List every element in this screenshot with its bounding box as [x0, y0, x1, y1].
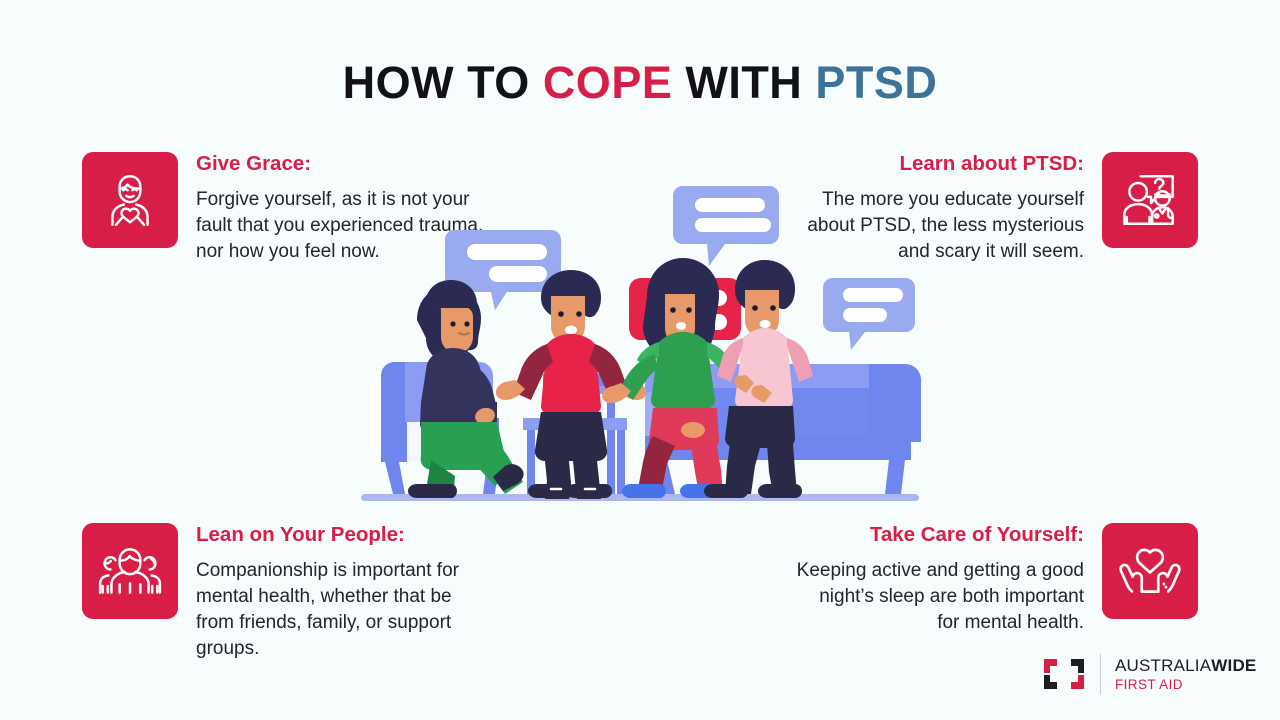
page-title: HOW TO COPE WITH PTSD	[0, 57, 1280, 109]
title-part-cope: COPE	[543, 57, 673, 108]
support-group-conversation-illustration	[355, 178, 925, 513]
doctor-patient-question-icon	[1102, 152, 1198, 248]
title-part-ptsd: PTSD	[815, 57, 937, 108]
infographic-canvas: HOW TO COPE WITH PTSD Give Grace: Forgiv…	[0, 0, 1280, 720]
tip-take-care-of-yourself: Take Care of Yourself: Keeping active an…	[792, 523, 1198, 636]
australia-wide-first-aid-cross-mark	[1040, 650, 1088, 698]
tip-text-block: Lean on Your People: Companionship is im…	[196, 523, 488, 662]
tip-text-block: Take Care of Yourself: Keeping active an…	[792, 523, 1084, 636]
logo-text-wide: WIDE	[1211, 656, 1256, 675]
logo-wordmark: AUSTRALIAWIDE FIRST AID	[1113, 657, 1256, 692]
tip-heading: Learn about PTSD:	[792, 152, 1084, 176]
tip-heading: Give Grace:	[196, 152, 488, 176]
tip-body: Companionship is important for mental he…	[196, 558, 488, 662]
tip-heading: Lean on Your People:	[196, 523, 488, 547]
person-hands-on-heart-icon	[82, 152, 178, 248]
group-of-people-icon	[82, 523, 178, 619]
logo-text-australia: AUSTRALIA	[1115, 656, 1211, 675]
hands-holding-heart-icon	[1102, 523, 1198, 619]
australia-wide-first-aid-logo: AUSTRALIAWIDE FIRST AID	[1040, 650, 1256, 698]
logo-line-primary: AUSTRALIAWIDE	[1115, 657, 1256, 674]
tip-lean-on-your-people: Lean on Your People: Companionship is im…	[82, 523, 488, 662]
tip-heading: Take Care of Yourself:	[792, 523, 1084, 547]
tip-body: Keeping active and getting a good night’…	[792, 558, 1084, 636]
title-part-how-to: HOW TO	[343, 57, 543, 108]
logo-divider	[1100, 654, 1101, 694]
title-part-with: WITH	[672, 57, 815, 108]
logo-text-first-aid: FIRST AID	[1115, 678, 1256, 692]
